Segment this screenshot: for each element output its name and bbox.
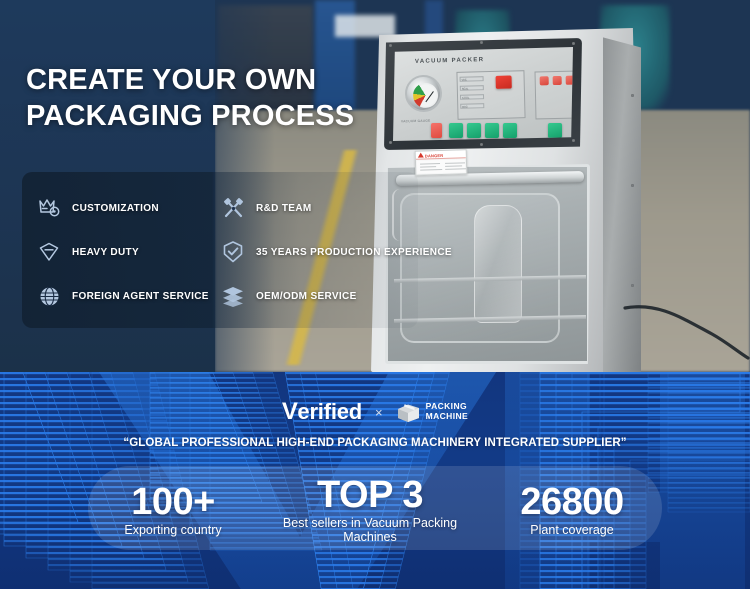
function-button[interactable]	[467, 123, 481, 138]
aux-button[interactable]	[553, 76, 562, 85]
verified-word: erified	[297, 401, 362, 423]
power-button-label: POWER	[431, 140, 441, 143]
settings-box: VAC SEAL COOL BAG	[456, 70, 525, 120]
diamond-gem-icon	[36, 239, 62, 265]
panel-screw	[389, 141, 392, 144]
partner-badge: PACKING MACHINE	[396, 401, 468, 423]
panel-screw	[480, 143, 483, 146]
stat-best-sellers: TOP 3 Best sellers in Vacuum Packing Mac…	[258, 476, 482, 544]
panel-screw	[480, 41, 483, 44]
feature-label: FOREIGN AGENT SERVICE	[72, 291, 209, 302]
feature-item-customization[interactable]: CUSTOMIZATION	[36, 186, 232, 230]
panel-screw	[572, 139, 575, 142]
stat-number: 100+	[88, 483, 258, 522]
crown-gear-icon	[36, 195, 62, 221]
verified-badge-row: V erified × PACKING MACHINE	[0, 397, 750, 427]
stat-number: TOP 3	[258, 476, 482, 515]
feature-label: R&D TEAM	[256, 203, 312, 214]
vacuum-bag	[474, 205, 522, 323]
stacked-layers-icon	[220, 283, 246, 309]
crossed-tools-icon	[220, 195, 246, 221]
power-cord	[620, 300, 750, 360]
machine-screw	[631, 94, 634, 97]
panel-screw	[389, 44, 392, 47]
banner-stats: 100+ Exporting country TOP 3 Best seller…	[88, 470, 662, 550]
shield-check-icon	[220, 239, 246, 265]
feature-item-oem-odm-service[interactable]: OEM/ODM SERVICE	[220, 274, 416, 318]
features-column-left: CUSTOMIZATION HEAVY DUTY	[36, 186, 232, 318]
multiply-separator-icon: ×	[375, 405, 383, 420]
headline-line-2: PACKAGING PROCESS	[26, 98, 466, 134]
feature-item-heavy-duty[interactable]: HEAVY DUTY	[36, 230, 232, 274]
banner-tagline: “GLOBAL PROFESSIONAL HIGH-END PACKAGING …	[0, 437, 750, 449]
hero-headline: CREATE YOUR OWN PACKAGING PROCESS	[26, 62, 466, 135]
stat-label: Best sellers in Vacuum Packing Machines	[258, 516, 482, 544]
seal-setting-label: SEAL SETTING	[538, 140, 557, 143]
headline-line-1: CREATE YOUR OWN	[26, 64, 316, 96]
verified-initial: V	[282, 400, 298, 424]
feature-label: HEAVY DUTY	[72, 247, 139, 258]
aux-button[interactable]	[566, 76, 575, 85]
stat-label: Exporting country	[88, 523, 258, 537]
feature-label: 35 YEARS PRODUCTION EXPERIENCE	[256, 247, 452, 258]
hero-section: VACUUM PACKER VACUUM GAUGE VAC SEAL COOL…	[0, 0, 750, 372]
feature-item-foreign-agent-service[interactable]: FOREIGN AGENT SERVICE	[36, 274, 232, 318]
machine-screw	[631, 284, 634, 287]
globe-icon	[36, 283, 62, 309]
partner-line-1: PACKING	[426, 401, 467, 411]
verified-logo: V erified	[282, 400, 362, 424]
feature-label: CUSTOMIZATION	[72, 203, 159, 214]
warning-word: DANGER	[425, 152, 444, 158]
panel-screw	[572, 42, 575, 45]
start-button[interactable]	[548, 123, 562, 138]
function-button[interactable]	[485, 123, 499, 138]
aux-button[interactable]	[540, 76, 549, 85]
warning-body	[417, 159, 465, 173]
stat-exporting-country: 100+ Exporting country	[88, 483, 258, 537]
partner-name: PACKING MACHINE	[426, 402, 468, 421]
auxiliary-button-box	[535, 71, 580, 120]
features-column-right: R&D TEAM 35 YEARS PRODUCTION EXPERIENCE	[220, 186, 416, 318]
stat-plant-coverage: 26800 Plant coverage	[482, 483, 662, 537]
package-box-icon	[396, 401, 421, 423]
stop-button[interactable]	[496, 75, 512, 88]
stat-number: 26800	[482, 483, 662, 522]
danger-warning-label: DANGER	[415, 149, 468, 175]
machine-screw	[631, 184, 634, 187]
stat-label: Plant coverage	[482, 523, 662, 537]
features-card: CUSTOMIZATION HEAVY DUTY	[22, 172, 418, 328]
feature-item-production-experience[interactable]: 35 YEARS PRODUCTION EXPERIENCE	[220, 230, 416, 274]
warning-header: DANGER	[416, 150, 466, 159]
partner-line-2: MACHINE	[426, 411, 468, 421]
feature-label: OEM/ODM SERVICE	[256, 291, 357, 302]
warning-triangle-icon	[418, 152, 424, 157]
function-button[interactable]	[503, 123, 517, 138]
feature-item-rd-team[interactable]: R&D TEAM	[220, 186, 416, 230]
